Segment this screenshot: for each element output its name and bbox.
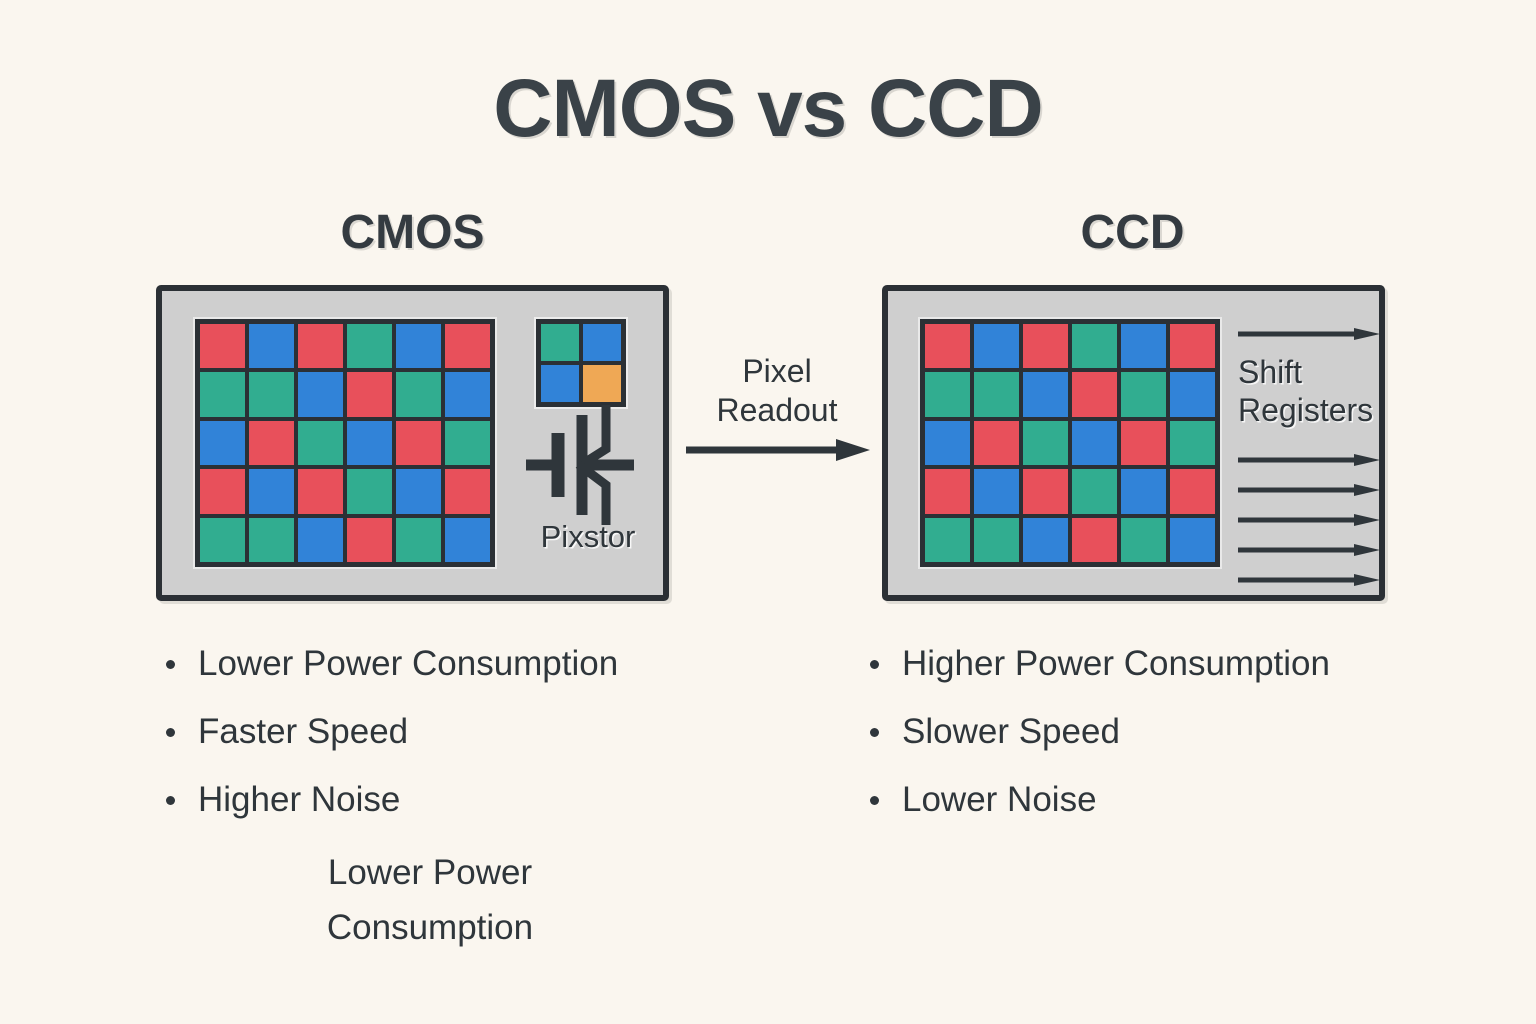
pixel-cell-green [1072,324,1117,368]
cmos-pixel-grid [195,319,495,567]
cmos-sensor-panel: Pixstor [156,285,669,601]
pixel-cell-green [925,372,970,416]
pixel-cell-green [347,469,392,513]
pixel-readout-line1: Pixel [742,353,811,389]
list-item: Higher Power Consumption [862,630,1462,698]
pixel-cell-green [541,324,579,361]
pixel-cell-blue [925,421,970,465]
pixel-cell-red [925,469,970,513]
pixstor-label: Pixstor [508,519,668,555]
pixel-cell-blue [298,518,343,562]
pixel-cell-blue [583,324,621,361]
pixel-cell-green [347,324,392,368]
page-title: CMOS vs CCD [0,62,1536,156]
pixel-cell-red [298,469,343,513]
pixel-cell-red [925,324,970,368]
bullet-dot-icon [166,796,175,805]
pixel-cell-green [249,372,294,416]
pixel-cell-green [445,421,490,465]
pixel-cell-green [249,518,294,562]
list-item-label: Lower Noise [902,780,1097,819]
footer-note-line2: Consumption [327,908,533,947]
shift-registers-line1: Shift [1238,354,1302,390]
footer-note-line1: Lower Power [328,853,532,892]
list-item: Faster Speed [158,698,758,766]
pixel-cell-red [1170,469,1215,513]
pixel-cell-green [396,372,441,416]
shift-registers-group: Shift Registers [1236,311,1386,581]
pixel-cell-green [396,518,441,562]
arrow-right-icon [1238,543,1380,557]
pixel-cell-blue [249,324,294,368]
footer-note: Lower Power Consumption [180,845,680,955]
list-item: Lower Power Consumption [158,630,758,698]
ccd-sensor-panel: Shift Registers [882,285,1385,601]
pixel-cell-blue [1121,469,1166,513]
pixel-cell-green [1121,518,1166,562]
ccd-heading: CCD [880,205,1385,260]
pixel-cell-red [445,469,490,513]
list-item-label: Higher Power Consumption [902,644,1330,683]
pixel-cell-red [200,469,245,513]
pixel-cell-red [974,421,1019,465]
pixel-cell-blue [347,421,392,465]
pixel-readout-label: Pixel Readout [672,352,882,430]
pixel-cell-blue [200,421,245,465]
cmos-heading: CMOS [155,205,670,260]
pixel-cell-green [200,372,245,416]
ccd-pixel-grid [920,319,1220,567]
list-item: Slower Speed [862,698,1462,766]
arrow-right-icon [1238,327,1380,341]
pixel-cell-red [200,324,245,368]
ccd-feature-list: Higher Power ConsumptionSlower SpeedLowe… [862,630,1462,834]
pixel-cell-blue [1121,324,1166,368]
bullet-dot-icon [870,796,879,805]
arrow-right-icon [1238,483,1380,497]
shift-registers-label: Shift Registers [1238,353,1386,429]
list-item: Higher Noise [158,766,758,834]
bullet-dot-icon [166,728,175,737]
pixel-cell-green [298,421,343,465]
pixel-cell-blue [541,365,579,402]
arrow-right-icon [1238,573,1380,587]
pixel-cell-red [298,324,343,368]
pixel-cell-red [1072,372,1117,416]
pixel-cell-blue [396,324,441,368]
pixel-cell-red [1170,324,1215,368]
pixel-cell-green [200,518,245,562]
pixel-cell-blue [249,469,294,513]
list-item-label: Higher Noise [198,780,400,819]
bullet-dot-icon [870,660,879,669]
pixel-cell-blue [1023,518,1068,562]
arrow-right-icon [1238,513,1380,527]
pixel-cell-blue [445,518,490,562]
pixel-cell-blue [1170,372,1215,416]
pixel-cell-green [1170,421,1215,465]
list-item-label: Slower Speed [902,712,1120,751]
pixel-cell-red [396,421,441,465]
shift-registers-line2: Registers [1238,392,1373,428]
pixstor-mini-grid [536,319,626,407]
pixel-cell-blue [396,469,441,513]
list-item-label: Lower Power Consumption [198,644,618,683]
pixel-cell-blue [1023,372,1068,416]
pixel-cell-blue [445,372,490,416]
pixel-cell-green [974,518,1019,562]
pixel-cell-blue [1072,421,1117,465]
pixel-cell-green [974,372,1019,416]
transistor-icon [524,405,644,525]
pixel-cell-green [1072,469,1117,513]
pixel-cell-red [445,324,490,368]
pixel-cell-red [1072,518,1117,562]
cmos-feature-list: Lower Power ConsumptionFaster SpeedHighe… [158,630,758,834]
pixel-cell-red [1023,324,1068,368]
pixel-cell-orange [583,365,621,402]
pixel-cell-red [249,421,294,465]
arrow-right-icon [686,437,870,463]
diagram-canvas: CMOS vs CCD CMOS Pixstor Lower Power Con… [0,0,1536,1024]
bullet-dot-icon [166,660,175,669]
pixel-cell-blue [1170,518,1215,562]
pixel-cell-red [347,518,392,562]
pixel-cell-blue [298,372,343,416]
pixel-cell-blue [974,324,1019,368]
bullet-dot-icon [870,728,879,737]
pixel-cell-green [1023,421,1068,465]
arrow-right-icon [1238,453,1380,467]
pixel-cell-green [1121,372,1166,416]
pixel-cell-blue [974,469,1019,513]
list-item: Lower Noise [862,766,1462,834]
pixel-cell-red [1121,421,1166,465]
pixstor-detail: Pixstor [526,319,646,569]
pixel-cell-green [925,518,970,562]
pixel-cell-red [1023,469,1068,513]
pixel-readout-line2: Readout [717,392,838,428]
list-item-label: Faster Speed [198,712,408,751]
pixel-cell-red [347,372,392,416]
